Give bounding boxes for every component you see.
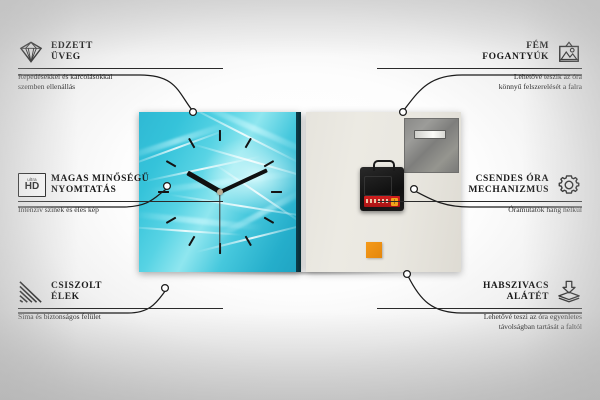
feature-subtitle: Lehetővé teszik az óra [377, 72, 582, 82]
feature-divider [377, 308, 582, 309]
feature-title-2: ALÁTÉT [483, 292, 549, 303]
feature-title: FÉM [482, 41, 549, 52]
ultra-hd-main-label: HD [25, 182, 39, 192]
feature-title-2: ÉLEK [51, 292, 102, 303]
feature-subtitle: Sima és biztonságos felület [18, 312, 223, 322]
feature-divider [18, 201, 223, 202]
feature-title: MAGAS MINŐSÉGŰ [51, 174, 149, 185]
bevelled-edge-icon [18, 280, 44, 304]
feature-title: HABSZIVACS [483, 281, 549, 292]
picture-hanger-icon [556, 40, 582, 64]
feature-subtitle: Lehetővé teszi az óra egyenletes [377, 312, 582, 322]
foam-pad-square [366, 242, 382, 258]
feature-metal-hangers: FÉM FOGANTYÚK Lehetővé teszik az óra kön… [377, 40, 582, 91]
feature-foam-pad: HABSZIVACS ALÁTÉT Lehetővé teszi az óra … [377, 280, 582, 331]
feature-divider [18, 308, 223, 309]
feature-subtitle-2: könnyű felszerelését a falra [377, 82, 582, 92]
ultra-hd-icon: ultra HD [18, 173, 44, 197]
feature-divider [377, 201, 582, 202]
feature-polished-edges: CSISZOLT ÉLEK Sima és biztonságos felüle… [18, 280, 223, 322]
feature-title: EDZETT [51, 41, 93, 52]
feature-title-2: FOGANTYÚK [482, 52, 549, 63]
metal-hanger-plate [404, 118, 459, 173]
mechanism-hanging-loop [373, 160, 395, 171]
feature-title-2: MECHANIZMUS [469, 185, 549, 196]
feature-subtitle: Repedésekkel és karcolásokkal [18, 72, 223, 82]
feature-title: CSISZOLT [51, 281, 102, 292]
feature-silent-mechanism: CSENDES ÓRA MECHANIZMUS Óramutatók hang … [377, 173, 582, 215]
feature-subtitle: Óramutatók hang nélkül [377, 205, 582, 215]
gear-icon [556, 173, 582, 197]
feature-tempered-glass: EDZETT ÜVEG Repedésekkel és karcolásokka… [18, 40, 223, 91]
feature-subtitle-2: szemben ellenállás [18, 82, 223, 92]
hanger-slot [414, 130, 446, 139]
feature-high-quality-print: ultra HD MAGAS MINŐSÉGŰ NYOMTATÁS Intenz… [18, 173, 223, 215]
feature-divider [377, 68, 582, 69]
infographic-canvas: EDZETT ÜVEG Repedésekkel és karcolásokka… [0, 0, 600, 400]
feature-divider [18, 68, 223, 69]
feature-subtitle-2: távolságban tartását a faltól [377, 322, 582, 332]
feature-title-2: ÜVEG [51, 52, 93, 63]
glass-edge [296, 112, 301, 272]
feature-title: CSENDES ÓRA [469, 174, 549, 185]
foam-pad-icon [556, 280, 582, 304]
diamond-icon [18, 40, 44, 64]
feature-title-2: NYOMTATÁS [51, 185, 149, 196]
feature-subtitle: Intenzív színek és éles kép [18, 205, 223, 215]
